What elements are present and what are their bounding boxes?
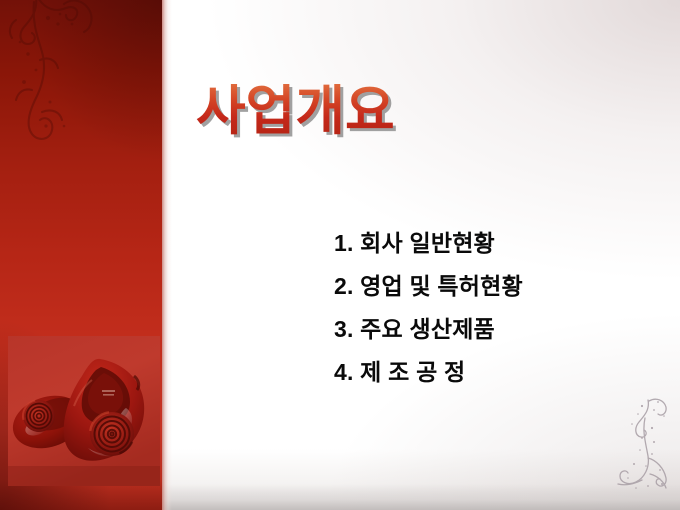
page-title: 사업개요 <box>196 84 395 138</box>
agenda-item-1[interactable]: 1. 회사 일반현황 <box>334 222 654 265</box>
vine-swirl-ornament-icon <box>2 0 122 169</box>
agenda-item-3[interactable]: 3. 주요 생산제품 <box>334 308 654 351</box>
left-panel-edge-shadow <box>162 0 172 510</box>
red-rose-ballet-flats-photo <box>8 336 160 486</box>
agenda-item-2[interactable]: 2. 영업 및 특허현황 <box>334 265 654 308</box>
slide-canvas: 사업개요 1. 회사 일반현황 2. 영업 및 특허현황 3. 주요 생산제품 … <box>0 0 680 510</box>
agenda-item-4[interactable]: 4. 제 조 공 정 <box>334 351 654 394</box>
agenda-list: 1. 회사 일반현황 2. 영업 및 특허현황 3. 주요 생산제품 4. 제 … <box>334 222 654 394</box>
vine-swirl-ornament-icon <box>612 394 674 494</box>
